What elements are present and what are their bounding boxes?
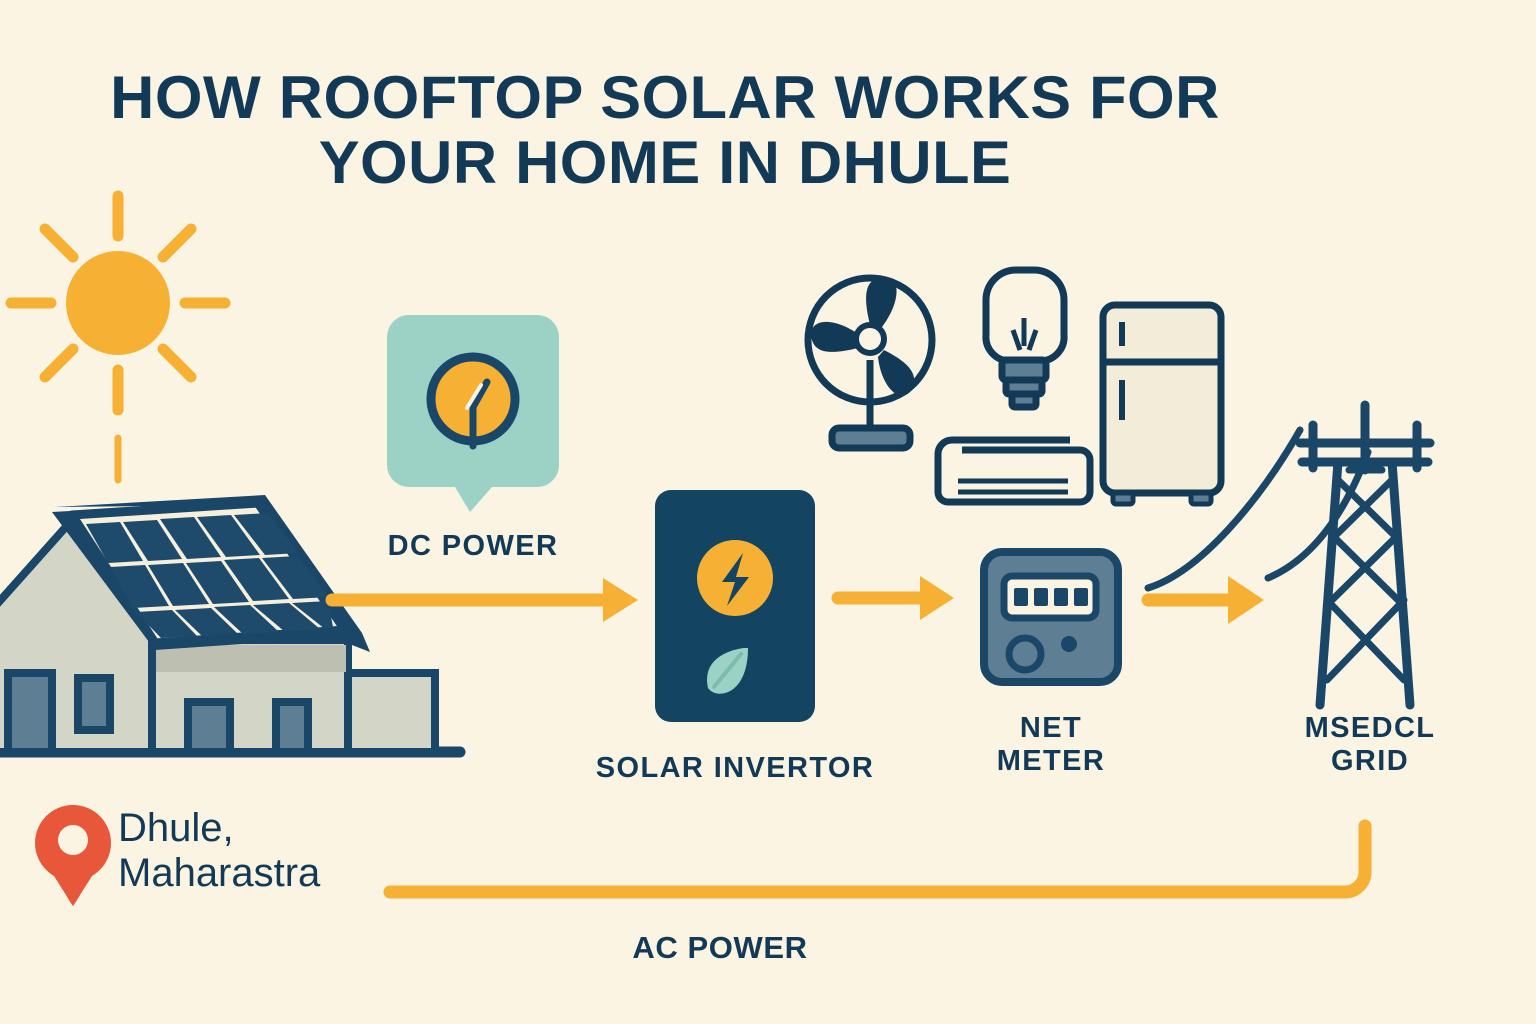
electric-meter-icon [984, 552, 1118, 682]
solar-inverter-label: SOLAR INVERTOR [585, 752, 885, 785]
refrigerator-icon [1103, 305, 1221, 504]
net-meter-label: NET METER [975, 712, 1127, 779]
arrow-right-icon [332, 578, 638, 622]
ac-power-line [390, 826, 1365, 892]
dc-power-bubble [387, 315, 559, 512]
light-bulb-icon [986, 270, 1064, 407]
ac-power-label: AC POWER [555, 930, 885, 966]
ceiling-fan-icon [808, 277, 932, 448]
title-line-1: HOW ROOFTOP SOLAR WORKS FOR [0, 66, 1343, 131]
map-pin-icon [35, 805, 111, 906]
location-label: Dhule, Maharastra [118, 806, 320, 896]
dc-power-label: DC POWER [383, 530, 563, 563]
sun-icon [11, 196, 225, 480]
msedcl-grid-label: MSEDCL GRID [1275, 712, 1465, 779]
air-conditioner-icon [938, 440, 1090, 502]
solar-inverter-icon [655, 490, 815, 722]
page-title: HOW ROOFTOP SOLAR WORKS FOR YOUR HOME IN… [0, 66, 1343, 196]
title-line-2: YOUR HOME IN DHULE [0, 131, 1343, 196]
arrow-right-icon [838, 576, 954, 620]
